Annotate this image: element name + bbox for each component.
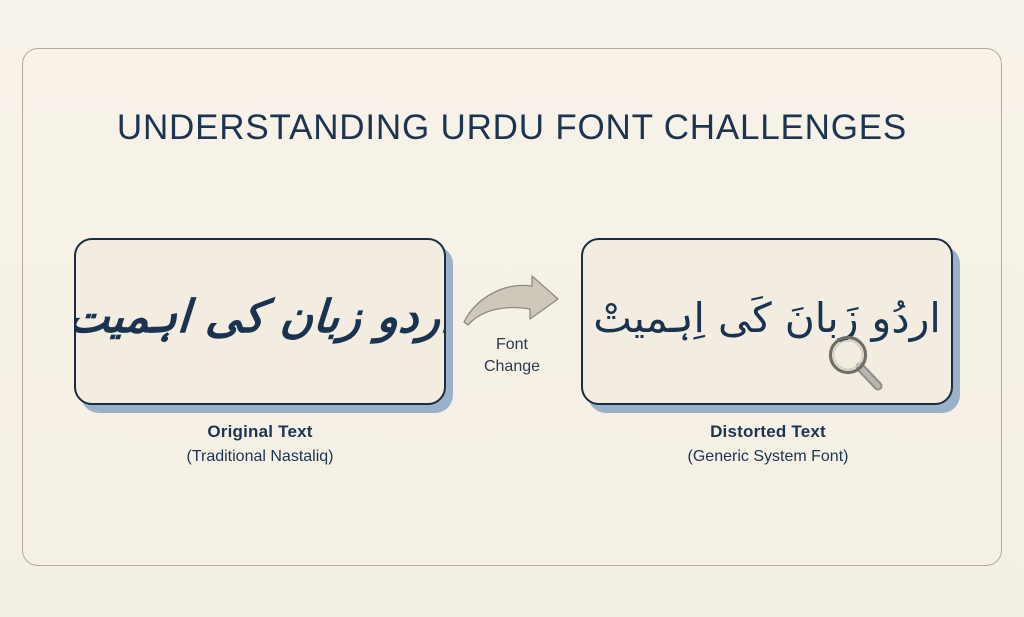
slide-root: UNDERSTANDING URDU FONT CHALLENGES اُردو… [0,0,1024,617]
distorted-caption-subtitle: (Generic System Font) [558,445,978,468]
font-change-label-line2: Change [452,356,572,378]
original-caption-subtitle: (Traditional Nastaliq) [50,445,470,468]
distorted-text-card[interactable]: اردُو زَبانَ کَی اِہمیتْ [581,238,953,405]
original-text-panel: اُردو زبان کی اہمیت [74,238,446,405]
distorted-text-panel: اردُو زَبانَ کَی اِہمیتْ [581,238,953,405]
original-text-caption: Original Text (Traditional Nastaliq) [50,421,470,468]
font-change-indicator: Font Change [452,272,572,384]
original-caption-title: Original Text [50,421,470,443]
original-urdu-text: اُردو زبان کی اہمیت [74,293,446,350]
curved-arrow-right-icon [460,272,564,330]
original-text-card[interactable]: اُردو زبان کی اہمیت [74,238,446,405]
font-change-label-line1: Font [452,334,572,356]
distorted-caption-title: Distorted Text [558,421,978,443]
distorted-urdu-text: اردُو زَبانَ کَی اِہمیتْ [593,297,941,346]
page-title: UNDERSTANDING URDU FONT CHALLENGES [0,108,1024,148]
font-change-label: Font Change [452,334,572,377]
distorted-text-caption: Distorted Text (Generic System Font) [558,421,978,468]
